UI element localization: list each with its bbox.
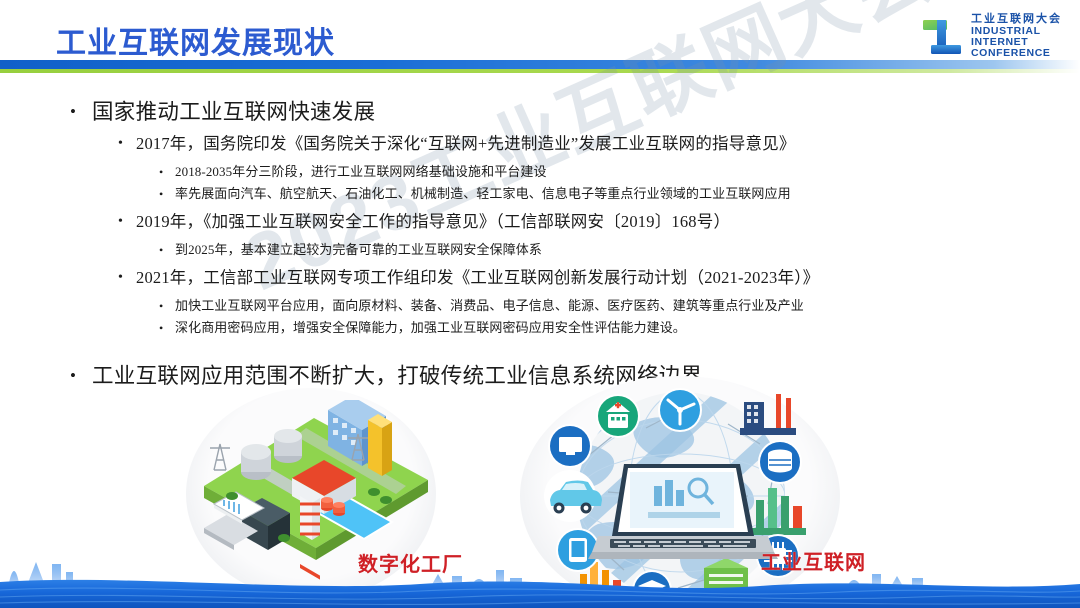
city-skyline-graphic: [0, 548, 1080, 608]
slide-root: 工业互联网发展现状 工业互联网大会 INDUSTRIAL INTERNET CO…: [0, 0, 1080, 608]
header-rule-blue: [0, 60, 1080, 69]
node-monitor-icon: [548, 424, 592, 468]
logo-title-cn: 工业互联网大会: [971, 14, 1062, 26]
node-wind-turbine-icon: [658, 388, 702, 432]
node-database-icon: [758, 440, 802, 484]
logo-title-en-3: CONFERENCE: [971, 48, 1062, 59]
bullet-level1-national-push: 国家推动工业互联网快速发展: [70, 97, 1080, 127]
node-hospital-icon: [596, 394, 640, 438]
bullet-level3-platform: 加快工业互联网平台应用，面向原材料、装备、消费品、电子信息、能源、医疗医药、建筑…: [157, 295, 1080, 317]
bullet-level2-2021: 2021年，工信部工业互联网专项工作组印发《工业互联网创新发展行动计划（2021…: [116, 265, 1080, 291]
bottom-band: [0, 548, 1080, 608]
bullet-level3-2025: 到2025年，基本建立起较为完备可靠的工业互联网安全保障体系: [157, 239, 1080, 261]
logo-text-block: 工业互联网大会 INDUSTRIAL INTERNET CONFERENCE: [971, 14, 1062, 59]
conference-logo: 工业互联网大会 INDUSTRIAL INTERNET CONFERENCE: [920, 14, 1062, 59]
node-factory-icon: [740, 394, 796, 435]
header-rule-green: [0, 69, 1080, 73]
bullet-level3-2018-2035: 2018-2035年分三阶段，进行工业互联网网络基础设施和平台建设: [157, 161, 1080, 183]
bullet-level3-industries: 率先展面向汽车、航空航天、石油化工、机械制造、轻工家电、信息电子等重点行业领域的…: [157, 183, 1080, 205]
bullet-level2-2017: 2017年，国务院印发《国务院关于深化“互联网+先进制造业”发展工业互联网的指导…: [116, 131, 1080, 157]
bullet-level3-crypto: 深化商用密码应用，增强安全保障能力，加强工业互联网密码应用安全性评估能力建设。: [157, 317, 1080, 339]
slide-body: 国家推动工业互联网快速发展 2017年，国务院印发《国务院关于深化“互联网+先进…: [0, 95, 1080, 391]
logo-mark-icon: [920, 15, 964, 59]
bullet-level2-2019: 2019年，《加强工业互联网安全工作的指导意见》（工信部联网安〔2019〕168…: [116, 209, 1080, 235]
page-title: 工业互联网发展现状: [56, 18, 335, 62]
